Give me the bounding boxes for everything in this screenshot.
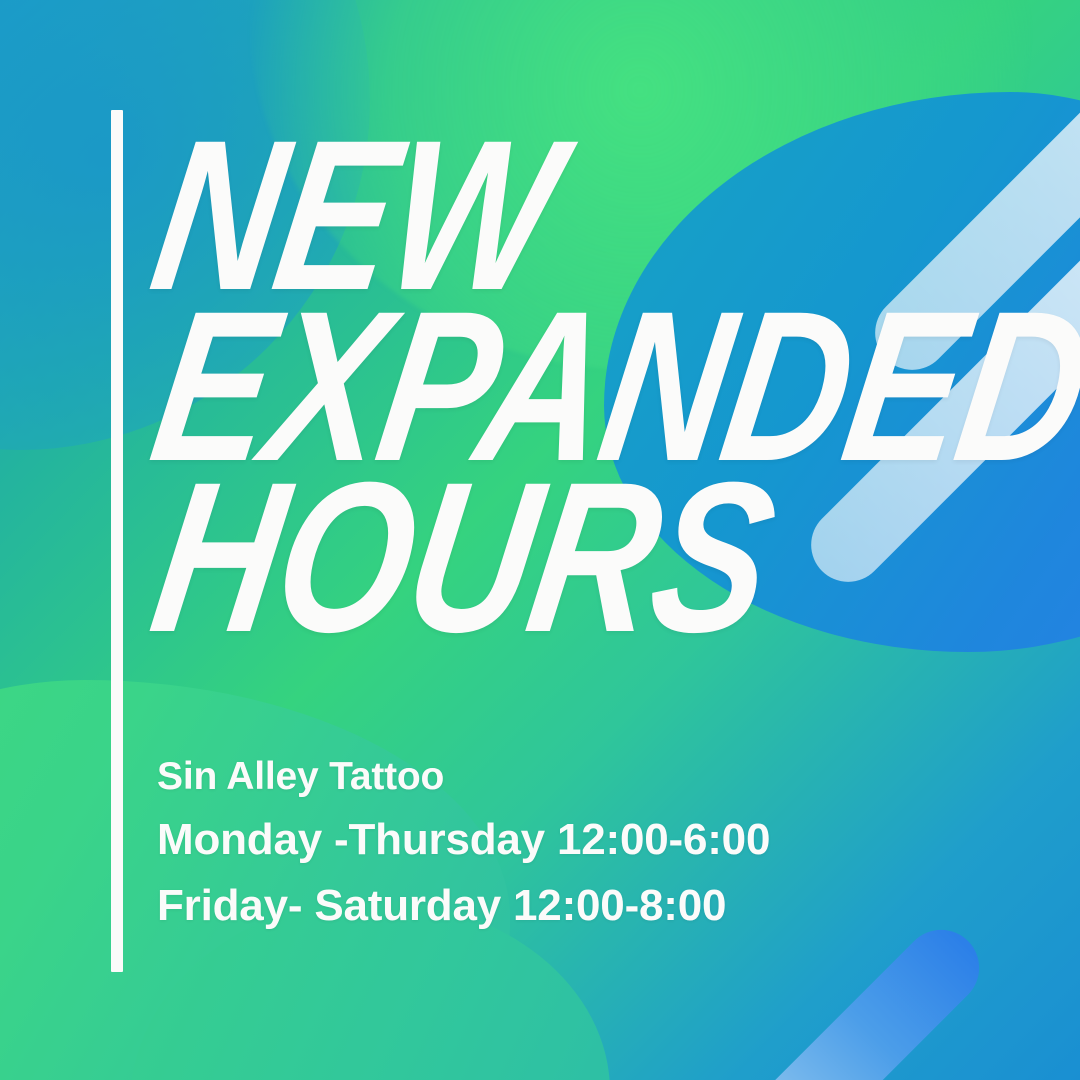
hours-line-weekend: Friday- Saturday 12:00-8:00 <box>157 873 957 939</box>
business-name: Sin Alley Tattoo <box>157 748 957 807</box>
hours-line-weekday: Monday -Thursday 12:00-6:00 <box>157 807 957 873</box>
headline-line-hours: HOURS <box>142 460 829 657</box>
vertical-rule-divider <box>111 110 123 972</box>
headline-block: NEW EXPANDED HOURS <box>158 118 978 657</box>
promo-poster: NEW EXPANDED HOURS Sin Alley Tattoo Mond… <box>0 0 1080 1080</box>
poster-content: NEW EXPANDED HOURS Sin Alley Tattoo Mond… <box>0 0 1080 1080</box>
details-block: Sin Alley Tattoo Monday -Thursday 12:00-… <box>157 748 957 939</box>
